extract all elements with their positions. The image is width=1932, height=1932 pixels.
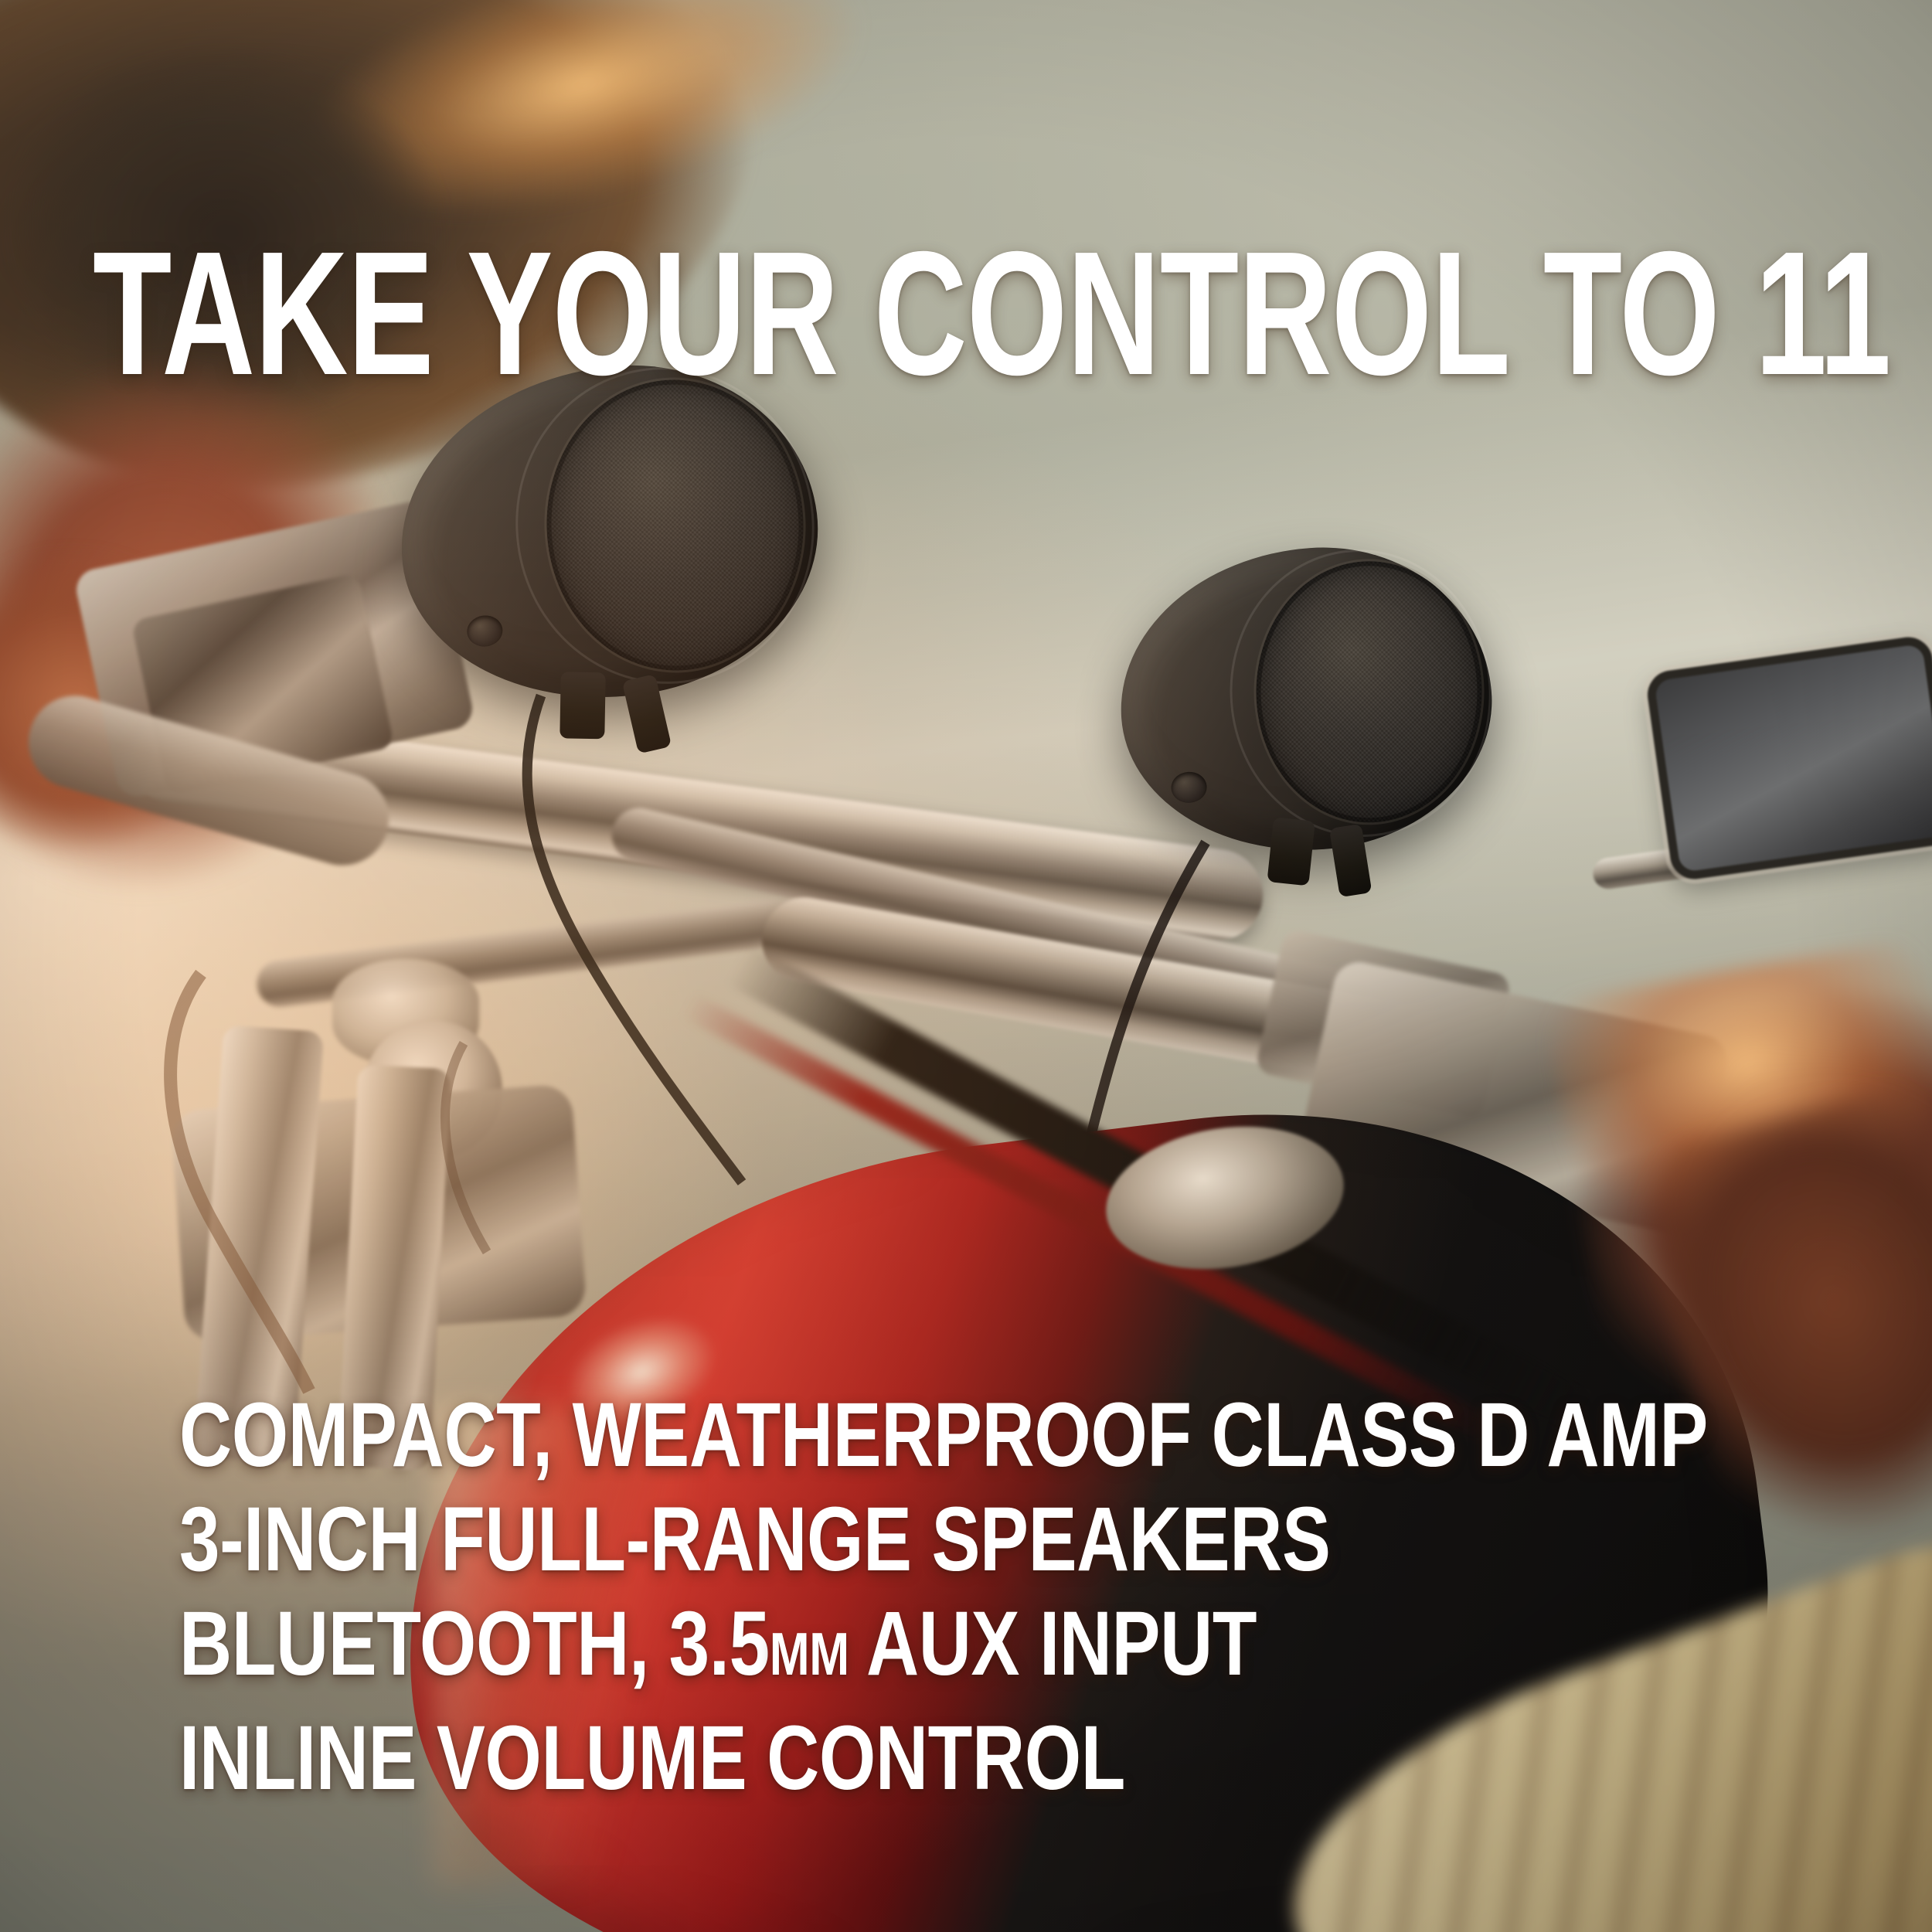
- feature-item-3: BLUETOOTH, 3.5MM AUX INPUT: [179, 1592, 1708, 1706]
- ad-creative: TAKE YOUR CONTROL TO 11 COMPACT, WEATHER…: [0, 0, 1932, 1932]
- page-title: TAKE YOUR CONTROL TO 11: [93, 226, 1891, 402]
- feature-item-4: INLINE VOLUME CONTROL: [179, 1706, 1708, 1811]
- feature-item-1: COMPACT, WEATHERPROOF CLASS D AMP: [179, 1383, 1708, 1488]
- feature-item-3-prefix: BLUETOOTH, 3.5: [179, 1593, 770, 1695]
- feature-item-3-suffix: AUX INPUT: [849, 1593, 1257, 1695]
- feature-list: COMPACT, WEATHERPROOF CLASS D AMP 3-INCH…: [179, 1383, 1932, 1811]
- feature-item-2: 3-INCH FULL-RANGE SPEAKERS: [179, 1488, 1708, 1592]
- feature-item-3-unit: MM: [770, 1621, 849, 1688]
